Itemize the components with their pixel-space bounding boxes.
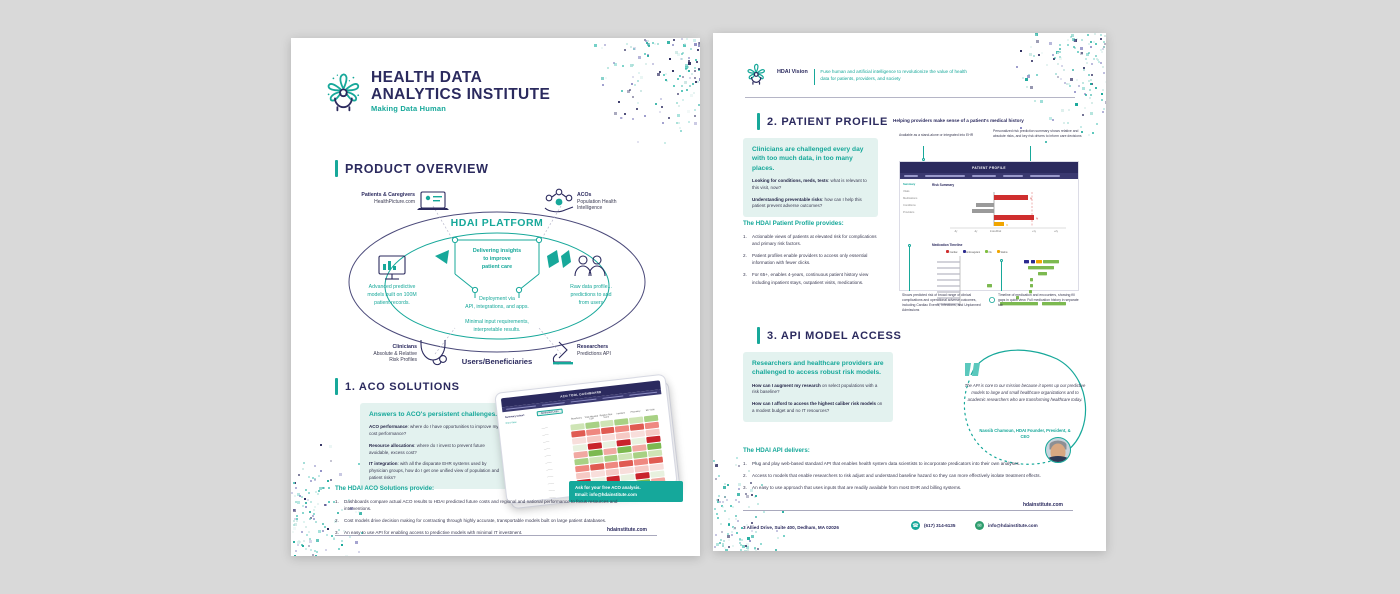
mockup-title: PATIENT PROFILE <box>972 166 1006 170</box>
mail-icon: ✉ <box>975 521 984 530</box>
vision-label: HDAI Vision <box>777 69 808 75</box>
logo: HEALTH DATA ANALYTICS INSTITUTE Making D… <box>323 70 550 114</box>
svg-text:-1y: -1y <box>988 256 992 257</box>
confetti-top-right-p1 <box>591 38 700 148</box>
svg-text:patient care: patient care <box>482 264 512 270</box>
section-heading-api-access: 3. API MODEL ACCESS <box>757 327 902 344</box>
vision-statement: HDAI Vision Fuse human and artificial in… <box>777 69 967 85</box>
section-accent-bar <box>757 113 760 130</box>
annotation-leader-4 <box>1001 261 1002 291</box>
section-heading-aco-solutions: 1. ACO SOLUTIONS <box>335 378 460 395</box>
quote-mark-icon <box>965 363 983 382</box>
mockup-title-bar: PATIENT PROFILE <box>900 162 1078 173</box>
api-challenges-callout: Researchers and healthcare providers are… <box>743 352 893 422</box>
brochure-page-2: HDAI Vision Fuse human and artificial in… <box>713 33 1106 551</box>
annotation-dot-4 <box>1000 259 1003 262</box>
vision-divider <box>814 69 815 85</box>
svg-text:Delivering insights: Delivering insights <box>473 248 521 254</box>
callout-item: ACO performance: where do I have opportu… <box>369 424 501 438</box>
annotation-predicted-risk: Shows predicted risk of broad range of c… <box>902 293 990 313</box>
list-item: Actionable views of patients at elevated… <box>743 233 883 247</box>
svg-text:Predictions API: Predictions API <box>577 351 611 357</box>
headshot-avatar <box>1045 437 1071 463</box>
tab-vitals[interactable]: Vitals <box>903 190 925 193</box>
chart-legend: Cardiac Anticoagulant Flu Statins <box>946 250 1074 254</box>
footer-website-p2[interactable]: hdainstitute.com <box>1023 502 1063 508</box>
svg-text:HDAI PLATFORM: HDAI PLATFORM <box>451 217 544 229</box>
svg-text:Users/Beneficiaries: Users/Beneficiaries <box>462 357 533 366</box>
callout-item: Resource allocations: where do I invest … <box>369 443 501 457</box>
svg-text:-2y: -2y <box>974 230 978 233</box>
brochure-page-1: HEALTH DATA ANALYTICS INSTITUTE Making D… <box>291 38 700 556</box>
annotation-timeline: Timeline of medication and encounters, s… <box>998 293 1080 308</box>
svg-text:ACOs: ACOs <box>577 192 592 198</box>
annotation-standalone: Available as a stand-alone or integrated… <box>899 133 977 138</box>
svg-text:from users: from users <box>579 300 604 306</box>
list-item: Cost models drive decision making for co… <box>335 517 645 524</box>
annotation-dot-3 <box>908 244 911 247</box>
risk-summary-chart: -3y-2y Index/Risk+1y+2y %% % <box>932 190 1072 234</box>
logo-line-1: HEALTH DATA <box>371 70 550 87</box>
svg-text:+1y: +1y <box>1044 256 1048 257</box>
svg-text:Intelligence: Intelligence <box>577 205 603 211</box>
list-item: Plug and play web-based standard API tha… <box>743 460 1043 467</box>
callout-item: Understanding preventable risks: how can… <box>752 197 869 211</box>
phone-number: (617) 314-6135 <box>924 523 955 528</box>
provides-heading: The HDAI ACO Solutions provide: <box>335 485 645 492</box>
svg-text:Risk Profiles: Risk Profiles <box>389 357 417 363</box>
svg-text:API, integrations, and apps.: API, integrations, and apps. <box>465 304 529 310</box>
svg-text:to improve: to improve <box>483 256 511 262</box>
screenshot-stage: HEALTH DATA ANALYTICS INSTITUTE Making D… <box>0 0 1400 594</box>
footer-divider <box>335 535 657 536</box>
section-accent-bar <box>335 378 338 395</box>
svg-text:%: % <box>1036 218 1039 221</box>
callout-heading: Researchers and healthcare providers are… <box>752 359 884 378</box>
svg-text:+1y: +1y <box>1032 230 1037 233</box>
flower-person-logo-icon <box>745 63 767 85</box>
annotation-leader-3 <box>909 246 910 291</box>
risk-summary-title: Risk Summary <box>932 183 1074 187</box>
provides-heading: The HDAI Patient Profile provides: <box>743 220 883 227</box>
svg-text:Advanced predictive: Advanced predictive <box>369 284 416 290</box>
svg-text:interpretable results.: interpretable results. <box>474 327 521 333</box>
svg-text:Index: Index <box>1018 256 1024 257</box>
svg-text:HealthPicture.com: HealthPicture.com <box>374 199 415 205</box>
list-item: Dashboards compare actual ACO results to… <box>335 498 645 512</box>
svg-text:Clinicians: Clinicians <box>392 344 417 350</box>
svg-text:predictions to and: predictions to and <box>571 292 612 298</box>
svg-text:Index/Risk: Index/Risk <box>990 230 1002 233</box>
callout-item: How can I afford to access the highest c… <box>752 401 884 415</box>
aco-provides-list: The HDAI ACO Solutions provide: Dashboar… <box>335 485 645 541</box>
callout-item: IT integration: with all the disparate E… <box>369 461 501 481</box>
svg-text:Raw data profile...: Raw data profile... <box>570 284 612 290</box>
footer-phone[interactable]: ☎ (617) 314-6135 <box>911 521 955 530</box>
section-heading-product-overview: PRODUCT OVERVIEW <box>335 160 489 177</box>
list-item: Access to models that enable researchers… <box>743 472 1043 479</box>
annotation-risk-summary: Personalized risk prediction summary sho… <box>993 129 1083 139</box>
tab-summary[interactable]: Summary <box>903 183 925 186</box>
patient-provides-list: The HDAI Patient Profile provides: Actio… <box>743 220 883 291</box>
callout-heading: Clinicians are challenged every day with… <box>752 145 869 173</box>
header-divider <box>745 97 1075 98</box>
svg-text:models built on 100M: models built on 100M <box>367 292 416 298</box>
footer-website-p1[interactable]: hdainstitute.com <box>607 527 647 533</box>
section-title-aco: 1. ACO SOLUTIONS <box>345 381 460 393</box>
list-item: An easy to use approach that uses inputs… <box>743 484 1043 491</box>
patient-challenges-callout: Clinicians are challenged every day with… <box>743 138 878 217</box>
svg-text:Researchers: Researchers <box>577 344 608 350</box>
callout-item: Looking for conditions, meds, tests: wha… <box>752 178 869 192</box>
logo-tagline: Making Data Human <box>371 105 550 113</box>
vision-text: Fuse human and artificial intelligence t… <box>820 69 967 82</box>
aco-challenges-callout: Answers to ACO's persistent challenges. … <box>360 403 510 489</box>
svg-text:+2y: +2y <box>1054 230 1059 233</box>
provides-heading: The HDAI API delivers: <box>743 447 1043 454</box>
footer-divider <box>743 510 1073 511</box>
footer-email[interactable]: ✉ info@hdainstitute.com <box>975 521 1038 530</box>
svg-text:%: % <box>1006 224 1009 227</box>
tab-medications[interactable]: Medications <box>903 197 925 200</box>
patient-profile-screenshot[interactable]: PATIENT PROFILE Summary Vitals Medicatio… <box>899 161 1079 291</box>
section-accent-bar <box>335 160 338 177</box>
svg-text:Patients & Caregivers: Patients & Caregivers <box>361 192 415 198</box>
section-title-patient: 2. PATIENT PROFILE <box>767 116 888 128</box>
logo-small <box>745 63 767 85</box>
list-item: Patient profiles enable providers to acc… <box>743 252 883 266</box>
flower-person-logo-icon <box>323 72 363 112</box>
section-title-api: 3. API MODEL ACCESS <box>767 330 902 342</box>
platform-diagram: Patients & Caregivers HealthPicture.com … <box>325 178 670 373</box>
patient-subnote: Helping providers make sense of a patien… <box>893 118 1068 123</box>
page-title: PRODUCT OVERVIEW <box>345 162 489 176</box>
svg-text:patient records.: patient records. <box>374 300 410 306</box>
medication-timeline-title: Medication Timeline <box>932 243 1074 247</box>
logo-line-2: ANALYTICS INSTITUTE <box>371 87 550 104</box>
api-provides-list: The HDAI API delivers: Plug and play web… <box>743 447 1043 496</box>
callout-item: How can I augment my research on select … <box>752 383 884 397</box>
svg-text:Minimal input requirements,: Minimal input requirements, <box>465 319 529 325</box>
svg-text:-3y: -3y <box>954 230 958 233</box>
email-address: info@hdainstitute.com <box>988 523 1038 528</box>
list-item: For 65+, enables 4-years, continuous pat… <box>743 271 883 285</box>
callout-heading: Answers to ACO's persistent challenges. <box>369 410 501 419</box>
tab-conditions[interactable]: Conditions <box>903 204 925 207</box>
svg-text:%: % <box>1030 198 1033 201</box>
tab-providers[interactable]: Providers <box>903 211 925 214</box>
footer-address: 3 Allied Drive, Suite 400, Dedham, MA 02… <box>743 525 839 530</box>
section-heading-patient-profile: 2. PATIENT PROFILE <box>757 113 888 130</box>
section-accent-bar <box>757 327 760 344</box>
phone-icon: ☎ <box>911 521 920 530</box>
svg-text:Deployment via: Deployment via <box>479 296 515 302</box>
quote-text: The API is core to our mission because i… <box>963 383 1087 403</box>
